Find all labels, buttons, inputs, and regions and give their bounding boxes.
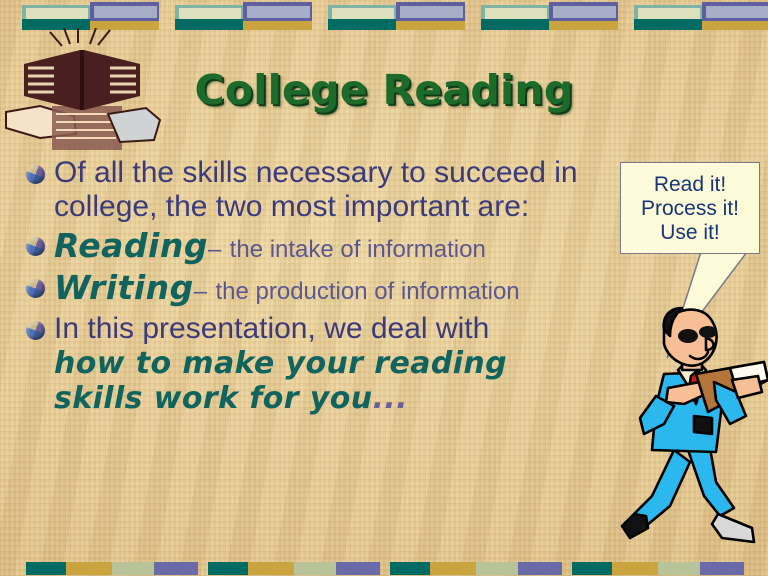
- writing-description: the production of information: [215, 278, 519, 305]
- decor-lavender-block: [247, 6, 310, 18]
- bottom-seg-sage: [476, 562, 518, 575]
- top-decor-unit: [634, 0, 768, 30]
- decor-sage-block: [332, 8, 394, 19]
- sphere-bullet-icon: [26, 237, 45, 256]
- decor-lavender-block: [706, 6, 768, 18]
- slide-title: College Reading: [0, 66, 768, 114]
- bullet-item-reading: Reading– the intake of information: [26, 228, 612, 265]
- right-hand: [732, 376, 762, 398]
- bottom-decorative-band: [0, 560, 768, 576]
- bottom-seg-gold: [66, 562, 112, 575]
- top-decor-unit: [481, 0, 618, 30]
- bottom-seg-gold: [612, 562, 658, 575]
- reading-description: the intake of information: [230, 236, 486, 263]
- decor-sage-block: [179, 8, 241, 19]
- bullet-item-presentation: In this presentation, we deal withhow to…: [26, 312, 612, 417]
- bubble-line-1: Read it!: [654, 173, 726, 197]
- bottom-seg-teal: [390, 562, 430, 575]
- bullet-item-writing: Writing– the production of information: [26, 270, 612, 307]
- keyword-writing: Writing: [54, 268, 194, 307]
- glasses-left-lens: [678, 329, 698, 343]
- bullet-text: Reading– the intake of information: [54, 228, 612, 265]
- bottom-seg-purple: [336, 562, 380, 575]
- bubble-line-2: Process it!: [641, 197, 739, 221]
- glasses-right-lens: [699, 326, 717, 338]
- bottom-seg-teal: [208, 562, 248, 575]
- presentation-intro: In this presentation, we deal with: [54, 312, 489, 345]
- belt: [694, 416, 712, 434]
- bullet-item: Of all the skills necessary to succeed i…: [26, 156, 612, 223]
- bottom-seg-teal: [572, 562, 612, 575]
- emphasis-line-2: skills work for you: [54, 381, 373, 416]
- emphasis-line-2-wrap: skills work for you...: [54, 382, 612, 417]
- bullet-text: In this presentation, we deal withhow to…: [54, 312, 612, 417]
- bottom-seg-sage: [294, 562, 336, 575]
- sphere-bullet-icon: [26, 279, 45, 298]
- bottom-seg-purple: [700, 562, 744, 575]
- decor-lavender-block: [400, 6, 463, 18]
- decor-lavender-block: [94, 6, 157, 18]
- bottom-seg-purple: [518, 562, 562, 575]
- slide-canvas: College Reading Of all the skills necess…: [0, 0, 768, 576]
- top-decor-unit: [22, 0, 159, 30]
- decor-sage-block: [485, 8, 547, 19]
- nose: [706, 338, 714, 350]
- dash-separator: –: [194, 278, 207, 305]
- bottom-seg-teal: [26, 562, 66, 575]
- decor-sage-block: [26, 8, 88, 19]
- sphere-bullet-icon: [26, 321, 45, 340]
- walking-reader-cartoon: [612, 300, 768, 552]
- bottom-seg-purple: [154, 562, 198, 575]
- dash-separator: –: [208, 236, 221, 263]
- keyword-reading: Reading: [54, 226, 208, 265]
- emphasis-line-1: how to make your reading: [54, 347, 612, 382]
- bullet-text: Of all the skills necessary to succeed i…: [54, 156, 612, 223]
- sphere-bullet-icon: [26, 165, 45, 184]
- emphasis-ellipsis: ...: [373, 381, 408, 416]
- bottom-seg-gold: [248, 562, 294, 575]
- back-shoe: [622, 514, 648, 538]
- book-sparkle-lines: [50, 28, 110, 46]
- top-decor-unit: [328, 0, 465, 30]
- decor-lavender-block: [553, 6, 616, 18]
- top-decor-unit: [175, 0, 312, 30]
- front-leg: [688, 448, 734, 516]
- slide-body: Of all the skills necessary to succeed i…: [26, 156, 612, 422]
- bottom-seg-sage: [658, 562, 700, 575]
- decor-sage-block: [638, 8, 700, 19]
- bottom-seg-sage: [112, 562, 154, 575]
- bottom-seg-gold: [430, 562, 476, 575]
- bubble-line-3: Use it!: [660, 221, 720, 245]
- bullet-text: Writing– the production of information: [54, 270, 612, 307]
- front-shoe: [712, 514, 754, 542]
- speech-bubble: Read it! Process it! Use it!: [620, 162, 760, 254]
